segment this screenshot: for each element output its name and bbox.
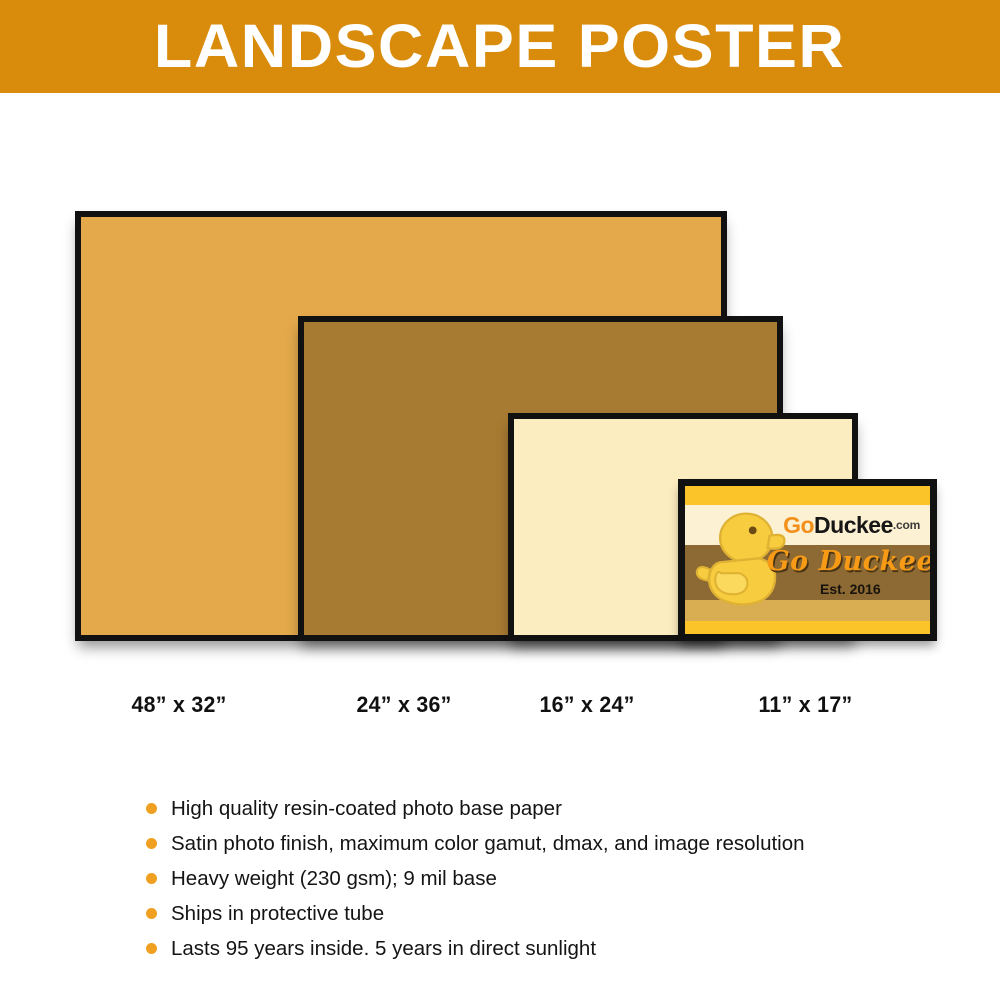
brand-script-text: Go Duckee: [773, 544, 927, 580]
feature-text: Ships in protective tube: [171, 900, 384, 927]
list-item: High quality resin-coated photo base pap…: [146, 795, 966, 822]
bullet-icon: [146, 908, 157, 919]
logo-stripe-bottom-yellow: [685, 621, 930, 634]
brand-duckee-text: Duckee: [814, 512, 893, 539]
size-label-11x17: 11” x 17”: [758, 692, 852, 718]
brand-go-text: Go: [783, 512, 814, 539]
bullet-icon: [146, 943, 157, 954]
feature-list: High quality resin-coated photo base pap…: [146, 795, 966, 970]
list-item: Heavy weight (230 gsm); 9 mil base: [146, 865, 966, 892]
list-item: Satin photo finish, maximum color gamut,…: [146, 830, 966, 857]
feature-text: Lasts 95 years inside. 5 years in direct…: [171, 935, 596, 962]
poster-swatch-11x17: GoDuckee.com Go Duckee Est. 2016: [678, 479, 937, 641]
size-label-24x36: 24” x 36”: [356, 692, 451, 718]
bullet-icon: [146, 838, 157, 849]
feature-text: Satin photo finish, maximum color gamut,…: [171, 830, 805, 857]
goduckee-logo-card: GoDuckee.com Go Duckee Est. 2016: [685, 486, 930, 634]
size-label-48x32: 48” x 32”: [131, 692, 226, 718]
brand-wordmark: GoDuckee.com: [778, 505, 925, 545]
brand-established-text: Est. 2016: [773, 578, 927, 600]
feature-text: High quality resin-coated photo base pap…: [171, 795, 562, 822]
brand-dotcom-text: .com: [893, 518, 920, 532]
size-label-16x24: 16” x 24”: [539, 692, 634, 718]
bullet-icon: [146, 803, 157, 814]
size-label-row: 48” x 32” 24” x 36” 16” x 24” 11” x 17”: [0, 692, 1000, 732]
poster-size-comparison-stage: GoDuckee.com Go Duckee Est. 2016: [0, 0, 1000, 700]
list-item: Ships in protective tube: [146, 900, 966, 927]
list-item: Lasts 95 years inside. 5 years in direct…: [146, 935, 966, 962]
bullet-icon: [146, 873, 157, 884]
feature-text: Heavy weight (230 gsm); 9 mil base: [171, 865, 497, 892]
